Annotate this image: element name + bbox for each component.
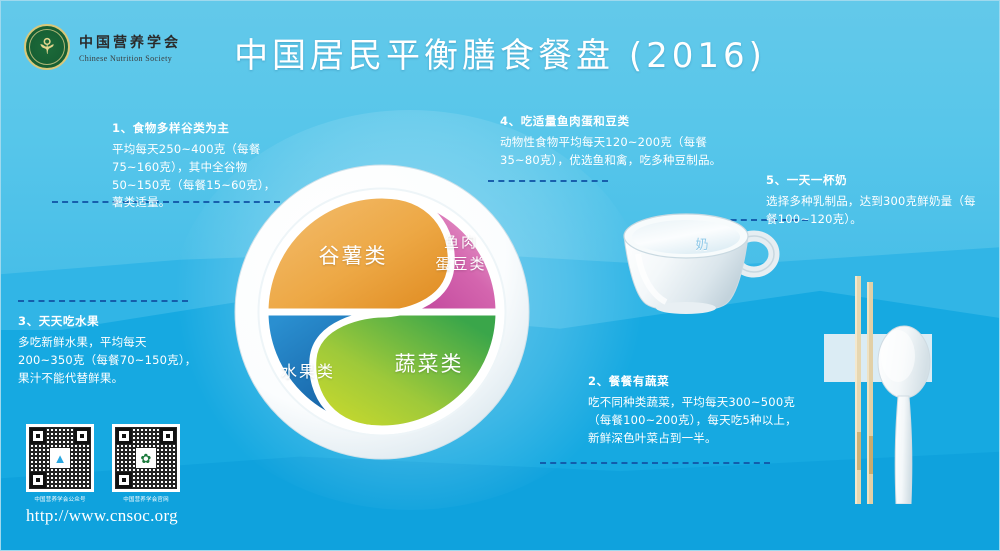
page-title: 中国居民平衡膳食餐盘 (2016) [0,38,1000,75]
qr-code-website[interactable]: ✿ [112,424,180,492]
qr-finder-icon [30,472,46,488]
website-url[interactable]: http://www.cnsoc.org [26,506,226,526]
qr-caption-website: 中国营养学会官网 [112,495,180,503]
qr-finder-icon [74,428,90,444]
qr-center-logo-icon: ✿ [136,448,156,468]
cup-label: 奶 [682,234,722,253]
note-vegetable: 2、餐餐有蔬菜 吃不同种类蔬菜，平均每天300~500克（每餐100~200克）… [588,373,803,447]
note-title: 4、吃适量鱼肉蛋和豆类 [500,113,730,129]
chopsticks [855,276,873,504]
poster-canvas: ⚘ 中国营养学会 Chinese Nutrition Society 中国居民平… [0,0,1000,551]
qr-caption-wechat: 中国营养学会公众号 [26,495,94,503]
connector-line-3 [18,300,188,302]
qr-code-wechat[interactable]: ▲ [26,424,94,492]
connector-line-2 [540,462,770,464]
note-title: 1、食物多样谷类为主 [112,120,284,136]
balanced-diet-plate: 谷薯类 鱼肉 蛋豆类 水果类 蔬菜类 [232,162,532,462]
note-body: 多吃新鲜水果，平均每天200~350克（每餐70~150克），果汁不能代替鲜果。 [18,334,198,387]
cup-graphic [608,192,798,322]
qr-row: ▲ ✿ [26,424,226,492]
qr-center-logo-icon: ▲ [50,448,70,468]
note-protein: 4、吃适量鱼肉蛋和豆类 动物性食物平均每天120~200克（每餐35~80克），… [500,113,730,170]
plate-graphic [232,162,532,462]
qr-finder-icon [116,472,132,488]
footer-block: ▲ ✿ 中国营养学会公众号 中国营养学会官网 http://www.cnsoc.… [26,424,226,526]
note-fruit: 3、天天吃水果 多吃新鲜水果，平均每天200~350克（每餐70~150克），果… [18,313,198,387]
note-title: 5、一天一杯奶 [766,172,976,188]
cutlery-group [812,272,992,504]
note-title: 2、餐餐有蔬菜 [588,373,803,389]
qr-finder-icon [30,428,46,444]
note-title: 3、天天吃水果 [18,313,198,329]
milk-cup: 奶 [608,192,798,322]
cutlery-graphic [812,272,992,504]
qr-finder-icon [160,428,176,444]
note-body: 动物性食物平均每天120~200克（每餐35~80克），优选鱼和禽，吃多种豆制品… [500,134,730,170]
spoon [878,326,930,504]
note-body: 吃不同种类蔬菜，平均每天300~500克（每餐100~200克），每天吃5种以上… [588,394,803,447]
qr-finder-icon [116,428,132,444]
qr-captions: 中国营养学会公众号 中国营养学会官网 [26,495,226,503]
